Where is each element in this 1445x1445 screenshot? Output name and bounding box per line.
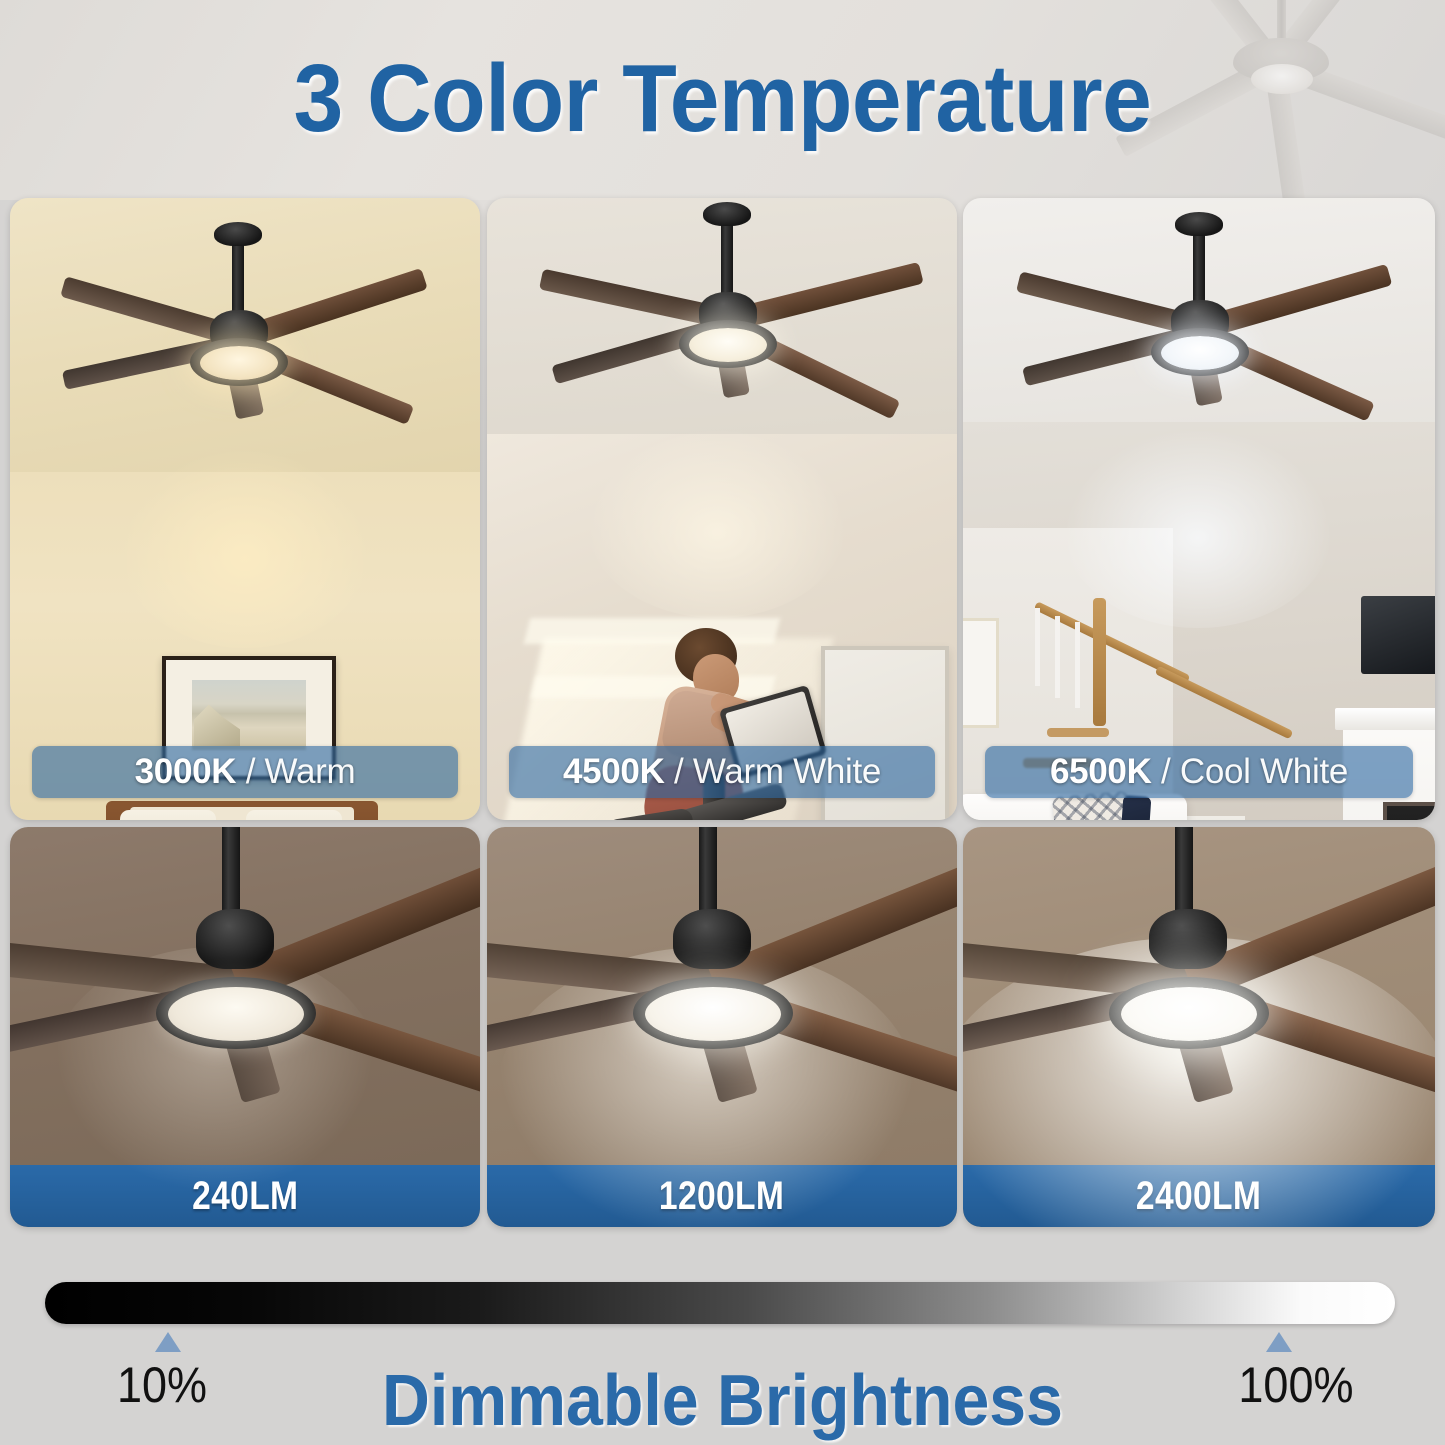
fan-downrod bbox=[1175, 827, 1193, 917]
temperature-name: Warm bbox=[265, 752, 356, 791]
wall-art-image bbox=[192, 680, 306, 750]
scene-bedroom bbox=[10, 198, 480, 820]
kelvin-value: 3000K bbox=[135, 752, 237, 791]
fan-motor-housing bbox=[1149, 909, 1227, 969]
brightness-min-marker-icon bbox=[155, 1332, 181, 1352]
infographic-page: 3 Color Temperature bbox=[0, 0, 1445, 1445]
kelvin-value: 6500K bbox=[1050, 752, 1152, 791]
fan-light-lens bbox=[200, 346, 278, 380]
brightness-title: Dimmable Brightness bbox=[58, 1360, 1387, 1442]
navy-pillow bbox=[1119, 795, 1152, 820]
label-bar-1200lm: 1200LM bbox=[487, 1165, 957, 1227]
label-text: 4500K / Warm White bbox=[563, 752, 881, 792]
stair-newel-post bbox=[1093, 598, 1106, 726]
lumen-value: 240LM bbox=[192, 1174, 298, 1219]
wall-tv bbox=[1361, 596, 1435, 674]
pillow bbox=[246, 810, 342, 820]
page-title: 3 Color Temperature bbox=[51, 44, 1395, 154]
label-bar-2400lm: 2400LM bbox=[963, 1165, 1435, 1227]
ceiling-fan bbox=[487, 198, 957, 528]
label-text: 3000K / Warm bbox=[135, 752, 356, 792]
fan-downrod bbox=[1193, 226, 1205, 308]
kelvin-value: 4500K bbox=[563, 752, 665, 791]
stair-spindle bbox=[1035, 608, 1040, 686]
fan-canopy bbox=[703, 202, 751, 226]
stair-spindle bbox=[1075, 622, 1080, 708]
label-bar-4500k: 4500K / Warm White bbox=[509, 746, 935, 798]
fan-canopy bbox=[214, 222, 262, 246]
stair-spindle bbox=[1055, 616, 1060, 698]
label-bar-240lm: 240LM bbox=[10, 1165, 480, 1227]
ceiling-fan bbox=[10, 198, 480, 528]
panel-2400lm[interactable]: 2400LM bbox=[963, 827, 1435, 1227]
wall-art-frame bbox=[963, 618, 999, 728]
brightness-slider-section: 10% 100% Dimmable Brightness bbox=[0, 1274, 1445, 1445]
temperature-name: Cool White bbox=[1180, 752, 1348, 791]
panel-4500k[interactable]: 4500K / Warm White bbox=[487, 198, 957, 820]
panel-1200lm[interactable]: 1200LM bbox=[487, 827, 957, 1227]
scene-living-room bbox=[963, 198, 1435, 820]
bike-seat bbox=[606, 807, 694, 820]
fan-light-lens bbox=[689, 328, 767, 362]
brightness-max-marker-icon bbox=[1266, 1332, 1292, 1352]
label-bar-6500k: 6500K / Cool White bbox=[985, 746, 1413, 798]
temperature-name: Warm White bbox=[693, 752, 881, 791]
fan-downrod bbox=[232, 236, 244, 318]
firebox bbox=[1383, 802, 1435, 820]
label-separator: / bbox=[236, 752, 264, 791]
fireplace-mantel bbox=[1335, 708, 1435, 730]
fan-light-lens bbox=[1161, 336, 1239, 370]
lumen-value: 1200LM bbox=[659, 1174, 784, 1219]
panel-240lm[interactable]: 240LM bbox=[10, 827, 480, 1227]
label-bar-3000k: 3000K / Warm bbox=[32, 746, 458, 798]
label-separator: / bbox=[1152, 752, 1180, 791]
brightness-gradient-bar[interactable] bbox=[45, 1282, 1395, 1324]
fan-canopy bbox=[1175, 212, 1223, 236]
panel-3000k[interactable]: 3000K / Warm bbox=[10, 198, 480, 820]
fan-motor-housing bbox=[673, 909, 751, 969]
label-text: 6500K / Cool White bbox=[1050, 752, 1348, 792]
ceiling-fan bbox=[963, 198, 1435, 528]
scene-home-gym bbox=[487, 198, 957, 820]
fan-light-lens bbox=[1121, 987, 1257, 1041]
fan-downrod bbox=[699, 827, 717, 917]
fan-downrod bbox=[721, 216, 733, 298]
fan-motor-housing bbox=[196, 909, 274, 969]
hero-banner: 3 Color Temperature bbox=[0, 0, 1445, 200]
fan-light-lens bbox=[645, 987, 781, 1041]
fan-light-lens bbox=[168, 987, 304, 1041]
label-separator: / bbox=[665, 752, 693, 791]
pillow bbox=[120, 810, 216, 820]
lumen-value: 2400LM bbox=[1136, 1174, 1261, 1219]
stair-tread bbox=[1047, 728, 1109, 737]
panel-6500k[interactable]: 6500K / Cool White bbox=[963, 198, 1435, 820]
fan-downrod bbox=[222, 827, 240, 917]
